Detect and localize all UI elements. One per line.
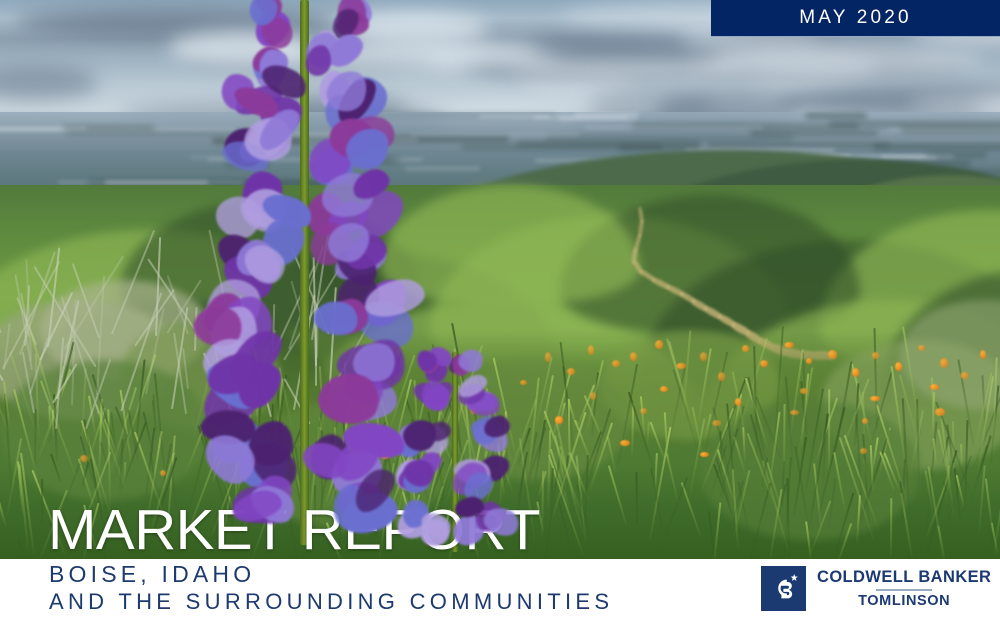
valley-haze-streak: [887, 128, 1000, 131]
brand-divider: [876, 589, 932, 591]
cover-photo: [0, 0, 1000, 560]
valley-haze-streak: [517, 141, 701, 147]
orange-wildflower: [806, 358, 812, 364]
orange-wildflower: [760, 360, 768, 367]
orange-wildflower: [718, 372, 725, 381]
valley-haze-streak: [750, 130, 878, 136]
valley-haze-streak: [410, 133, 579, 136]
brand-wordmark: COLDWELL BANKER TOMLINSON: [817, 568, 991, 610]
orange-wildflower: [918, 345, 925, 351]
brand-name: COLDWELL BANKER: [817, 568, 991, 587]
valley-haze-streak: [62, 125, 155, 131]
valley-haze-streak: [805, 113, 867, 119]
valley-haze-streak: [829, 121, 1000, 127]
orange-wildflower: [160, 470, 166, 476]
grass-blade: [51, 410, 53, 438]
orange-wildflower: [545, 352, 551, 362]
cloud: [530, 30, 690, 58]
subtitle-location: BOISE, IDAHO: [49, 561, 613, 587]
orange-wildflower: [700, 352, 707, 361]
orange-wildflower: [860, 448, 867, 454]
orange-wildflower: [640, 408, 647, 414]
valley-haze-streak: [105, 181, 208, 184]
brand-logo[interactable]: COLDWELL BANKER TOMLINSON: [761, 566, 991, 611]
grass-blade: [890, 498, 892, 558]
report-cover: MAY 2020 MARKET REPORT BOISE, IDAHO AND …: [0, 0, 1000, 626]
cloud: [504, 57, 741, 77]
subtitle-block: BOISE, IDAHO AND THE SURROUNDING COMMUNI…: [49, 561, 613, 615]
orange-wildflower: [588, 345, 594, 355]
valley-haze-streak: [707, 142, 890, 148]
date-banner-text: MAY 2020: [799, 7, 912, 29]
orange-wildflower: [935, 408, 945, 416]
valley-haze-streak: [585, 126, 763, 129]
orange-wildflower: [660, 386, 668, 392]
valley-haze-streak: [534, 116, 629, 119]
orange-wildflower: [555, 416, 563, 424]
valley-haze-streak: [405, 167, 480, 170]
date-banner: MAY 2020: [711, 0, 1000, 37]
orange-wildflower: [655, 340, 663, 349]
valley-haze-streak: [926, 152, 987, 158]
coldwell-banker-cb-star-icon: [761, 566, 806, 611]
orange-wildflower: [870, 396, 880, 401]
brand-affiliate-name: TOMLINSON: [858, 593, 950, 610]
orange-wildflower: [735, 398, 741, 406]
orange-wildflower: [567, 368, 575, 375]
orange-wildflower: [700, 452, 709, 457]
valley-haze-streak: [873, 144, 1000, 150]
grass-blade: [635, 471, 637, 523]
subtitle-communities: AND THE SURROUNDING COMMUNITIES: [49, 589, 613, 615]
orange-wildflower: [80, 455, 88, 462]
orange-wildflower: [712, 420, 721, 426]
